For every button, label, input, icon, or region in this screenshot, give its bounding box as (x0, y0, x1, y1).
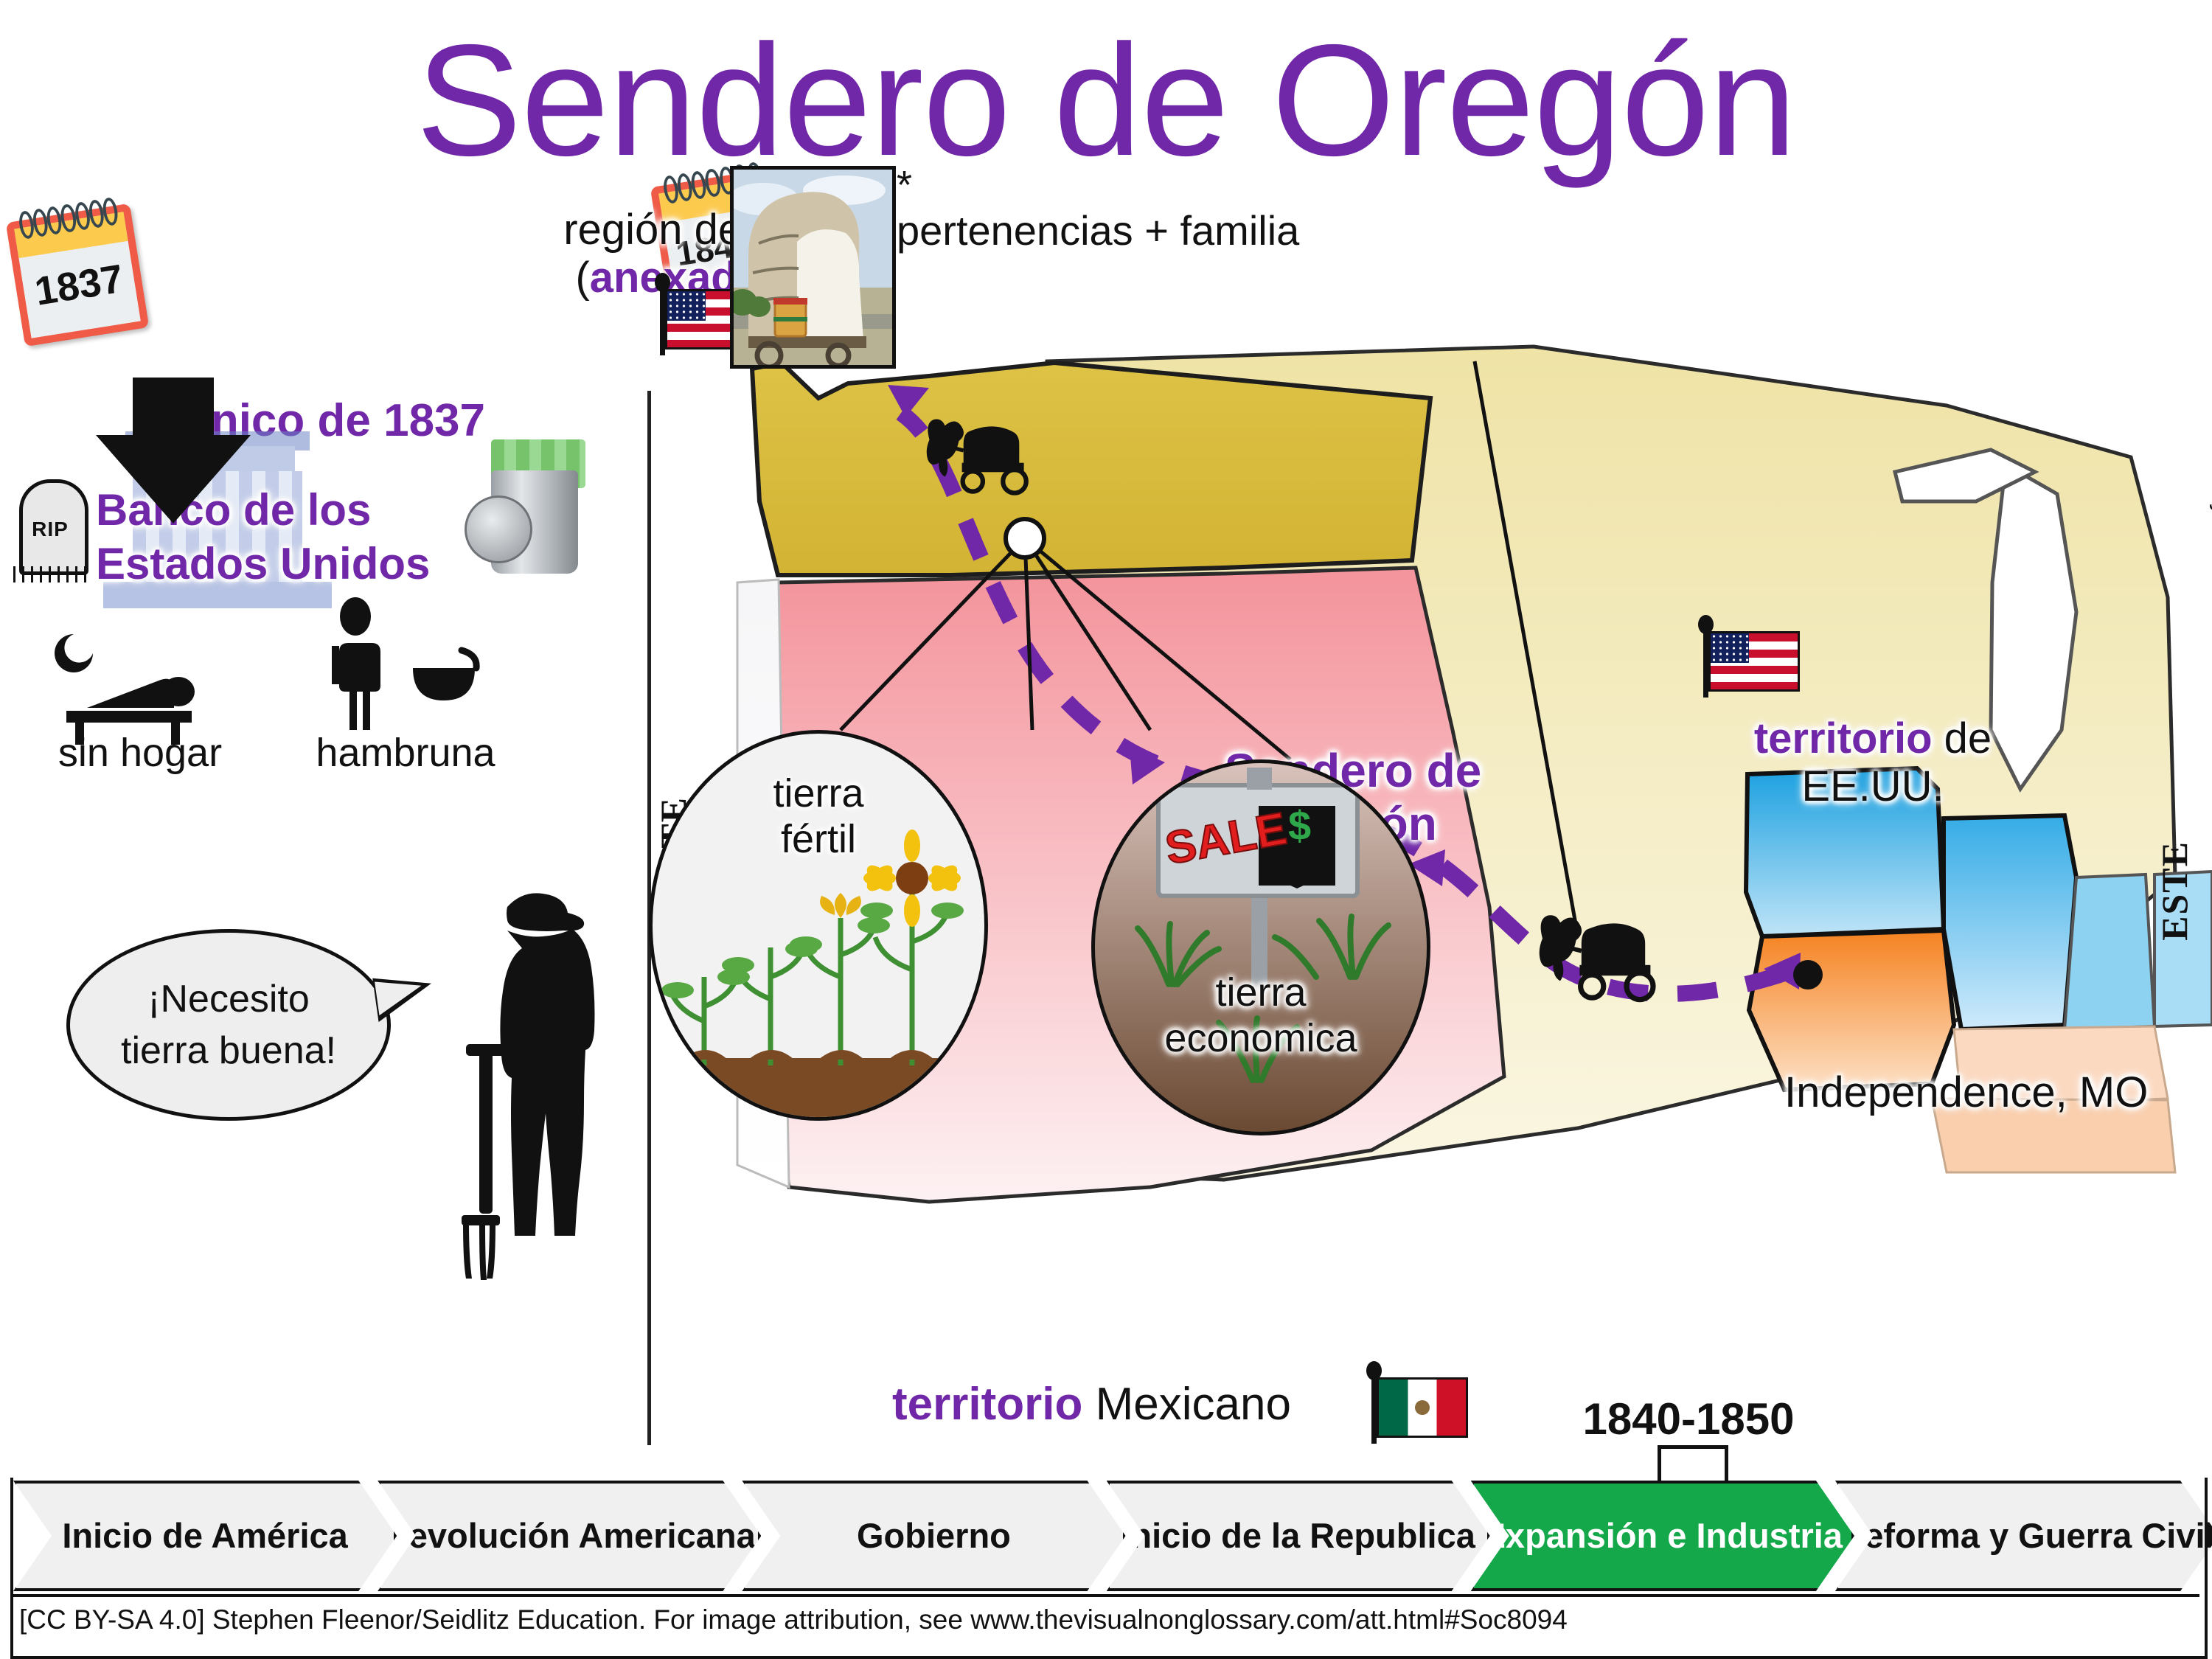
inset-origin-marker (1006, 519, 1044, 557)
cheap-land-illustration: $ SALE (1095, 763, 1427, 1132)
inset-cheap-caption: tierra economica (1095, 970, 1427, 1061)
us-territory-label: territorio de EE.UU. (1681, 715, 2065, 811)
timeline: Inicio de América Revolución Americana G… (13, 1481, 2199, 1585)
timeline-step-3[interactable]: Inicio de la Republica (1107, 1481, 1490, 1591)
inset-cheap-line2: economica (1095, 1015, 1427, 1061)
us-flag-canton (1711, 633, 1749, 663)
famine-label: hambruna (265, 730, 546, 776)
calendar-1837-icon: 1837 (6, 204, 150, 347)
bank-label-line2: Estados Unidos (96, 537, 430, 591)
money-trash-icon (465, 428, 590, 575)
speech-bubble-tail-inner (375, 975, 425, 1015)
dollar-sign: $ (1288, 802, 1311, 849)
mexico-flag-emblem (1415, 1400, 1430, 1415)
trash-can-lid (465, 495, 532, 563)
timeline-range-label: 1840-1850 (1534, 1394, 1843, 1444)
tombstone-icon: RIP (13, 479, 87, 582)
mexican-territory-bold-word: territorio (892, 1379, 1082, 1430)
paren-open: ( (575, 254, 589, 302)
timeline-range-bracket (1658, 1445, 1728, 1484)
inset-fertile-caption: tierra fértil (653, 771, 984, 862)
us-territory-bold-word: territorio (1754, 714, 1933, 762)
footer-rule (13, 1594, 2199, 1597)
farmer-silhouette-icon (420, 877, 641, 1290)
inset-cheap-line1: tierra (1095, 970, 1427, 1015)
inset-fertile-line1: tierra (653, 771, 984, 816)
us-territory-line2: EE.UU. (1681, 763, 2065, 811)
wagon-caption: pertenencias + familia (897, 208, 1299, 254)
photo-credit: *Credit: Larry D. Moore/Wikimedia Common… (2208, 369, 2212, 870)
homeless-label: sin hogar (22, 730, 258, 776)
map-region: 1840s región de Oregón (anexado 1846) Se… (708, 317, 2212, 1453)
flag-pole (660, 285, 665, 355)
calendar-year-text: 1837 (21, 254, 137, 316)
oregon-region-shape (752, 363, 1430, 575)
famine-icon (310, 597, 501, 745)
tombstone-grass (13, 566, 87, 582)
wagon-body (748, 192, 866, 365)
homeless-icon (52, 612, 236, 745)
inset-fertile-line2: fértil (653, 816, 984, 862)
timeline-step-2[interactable]: Gobierno (742, 1481, 1125, 1591)
mexican-territory-label: territorio Mexicano (892, 1379, 1291, 1430)
independence-marker (1793, 960, 1823, 990)
state-indiana (2065, 874, 2154, 1029)
wagon-photo-asterisk: * (897, 162, 912, 208)
timeline-step-1[interactable]: Revolución Americana (378, 1481, 761, 1591)
independence-label: Independence, MO (1784, 1069, 2148, 1117)
mexican-territory-rest-word: Mexicano (1096, 1379, 1291, 1430)
mexico-flag-cloth (1377, 1377, 1468, 1438)
inset-cheap-land: $ SALE tierra economica (1091, 759, 1430, 1135)
farmer-speech-bubble: ¡Necesito tierra buena! (66, 929, 391, 1121)
page-title: Sendero de Oregón (0, 21, 2212, 179)
arrow-head (96, 435, 251, 524)
direction-east-label: ESTE (2153, 841, 2196, 941)
timeline-step-5[interactable]: Reforma y Guerra Civil (1835, 1481, 2212, 1591)
us-territory-rest-word: de (1944, 714, 1992, 762)
state-illinois (1944, 815, 2076, 1029)
arrow-shaft (133, 378, 214, 437)
farmer-quote-text: ¡Necesito tierra buena! (107, 973, 350, 1077)
flag-pole (1703, 627, 1708, 698)
us-territory-line1: territorio de (1681, 715, 2065, 763)
tombstone-rip-text: RIP (13, 518, 87, 541)
timeline-step-0[interactable]: Inicio de América (13, 1481, 397, 1591)
flag-pole (1371, 1373, 1377, 1444)
us-flag-cloth (1708, 631, 1800, 692)
covered-wagon-photo (730, 166, 896, 369)
left-panel: 1837 Pánico de 1837 RIP Banco de los Est… (0, 184, 649, 1438)
timeline-step-4[interactable]: Expansión e Industria (1471, 1481, 1854, 1591)
state-missouri (1749, 931, 1954, 1090)
wagon-photo-illustration (734, 170, 892, 365)
footer-credit: [CC BY-SA 4.0] Stephen Fleenor/Seidlitz … (19, 1604, 1568, 1635)
us-flag-canton (667, 291, 706, 321)
inset-fertile-land: tierra fértil (649, 730, 988, 1121)
